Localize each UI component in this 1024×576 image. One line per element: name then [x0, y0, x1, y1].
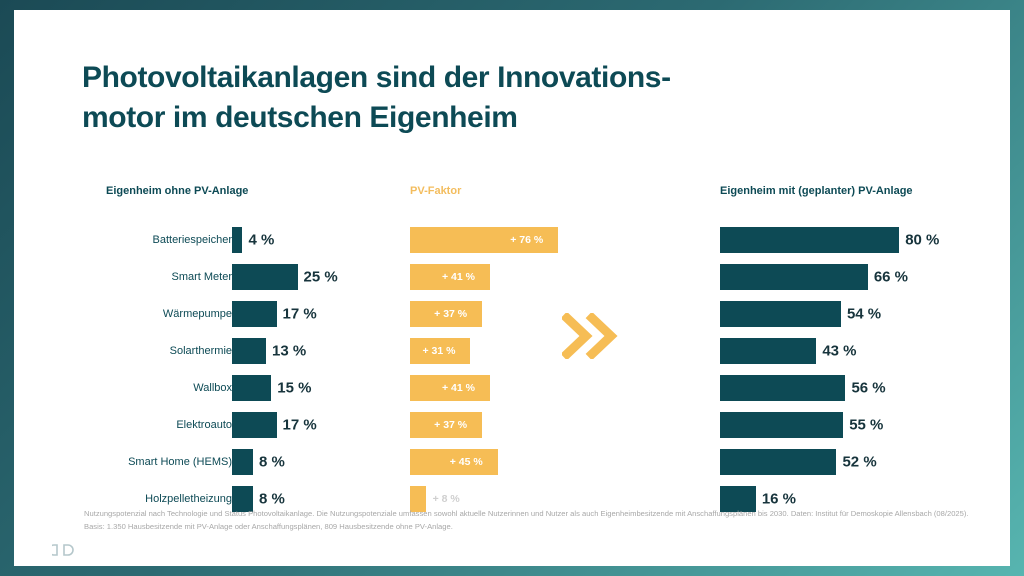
bar-row: 54 %: [702, 295, 982, 332]
bar-row: Batteriespeicher4 %: [74, 221, 404, 258]
bar-value-label: 15 %: [277, 379, 311, 396]
bar-without-pv: [232, 301, 277, 327]
bar-value-label: + 41 %: [442, 271, 475, 283]
slide-card: Photovoltaikanlagen sind der Innovations…: [14, 10, 1010, 566]
bar-value-label: 17 %: [283, 305, 317, 322]
bar-row: Smart Meter25 %: [74, 258, 404, 295]
bar-value-label: 43 %: [822, 342, 856, 359]
bar-value-label: 80 %: [905, 231, 939, 248]
bar-value-label: 66 %: [874, 268, 908, 285]
bar-rows-right: 80 %66 %54 %43 %56 %55 %52 %16 %: [702, 221, 982, 517]
title-highlight: Photovoltaikanlagen: [82, 61, 368, 94]
panel-heading-right: Eigenheim mit (geplanter) PV-Anlage: [720, 185, 913, 197]
title-line2: motor im deutschen Eigenheim: [82, 101, 518, 134]
bar-value-label: + 31 %: [422, 345, 455, 357]
bar-with-pv: [720, 412, 843, 438]
bar-rows-middle: + 76 %+ 41 %+ 37 %+ 31 %+ 41 %+ 37 %+ 45…: [410, 221, 640, 517]
bar-rows-left: Batteriespeicher4 %Smart Meter25 %Wärmep…: [74, 221, 404, 517]
bar-row: Smart Home (HEMS)8 %: [74, 443, 404, 480]
category-label: Solarthermie: [170, 345, 232, 357]
bar-with-pv: [720, 375, 845, 401]
category-label: Smart Home (HEMS): [128, 456, 232, 468]
page-title: Photovoltaikanlagen sind der Innovations…: [82, 58, 952, 137]
bar-value-label: 55 %: [849, 416, 883, 433]
bar-value-label: + 37 %: [434, 308, 467, 320]
bar-row: Wärmepumpe17 %: [74, 295, 404, 332]
bar-row: + 45 %: [410, 443, 640, 480]
bar-with-pv: [720, 227, 899, 253]
brand-logo: [52, 541, 82, 559]
bar-with-pv: [720, 338, 816, 364]
category-label: Wallbox: [193, 382, 232, 394]
bar-value-label: + 8 %: [433, 493, 460, 505]
double-chevron-right-icon: [562, 313, 620, 359]
panel-heading-left: Eigenheim ohne PV-Anlage: [106, 185, 248, 197]
bar-value-label: + 76 %: [510, 234, 543, 246]
bar-without-pv: [232, 449, 253, 475]
bar-row: Wallbox15 %: [74, 369, 404, 406]
bar-without-pv: [232, 227, 242, 253]
bar-row: 55 %: [702, 406, 982, 443]
bar-row: + 41 %: [410, 369, 640, 406]
bar-without-pv: [232, 338, 266, 364]
bar-without-pv: [232, 375, 271, 401]
bar-row: 80 %: [702, 221, 982, 258]
category-label: Batteriespeicher: [153, 234, 233, 246]
bar-value-label: 56 %: [851, 379, 885, 396]
bar-row: + 76 %: [410, 221, 640, 258]
bar-row: + 41 %: [410, 258, 640, 295]
bar-row: Solarthermie13 %: [74, 332, 404, 369]
bar-without-pv: [232, 412, 277, 438]
category-label: Wärmepumpe: [163, 308, 232, 320]
bar-row: 52 %: [702, 443, 982, 480]
category-label: Smart Meter: [171, 271, 232, 283]
panel-heading-middle: PV-Faktor: [410, 185, 461, 197]
bar-value-label: 8 %: [259, 453, 285, 470]
bar-value-label: 8 %: [259, 490, 285, 507]
category-label: Elektroauto: [176, 419, 232, 431]
bar-row: + 37 %: [410, 406, 640, 443]
bar-with-pv: [720, 449, 836, 475]
bar-value-label: + 41 %: [442, 382, 475, 394]
bar-with-pv: [720, 301, 841, 327]
title-rest: sind der Innovations-: [368, 61, 671, 94]
bar-value-label: 52 %: [842, 453, 876, 470]
bar-row: Elektroauto17 %: [74, 406, 404, 443]
bar-without-pv: [232, 264, 298, 290]
bar-value-label: + 37 %: [434, 419, 467, 431]
bar-row: 66 %: [702, 258, 982, 295]
bar-value-label: 25 %: [304, 268, 338, 285]
bar-value-label: 17 %: [283, 416, 317, 433]
bar-with-pv: [720, 264, 868, 290]
bar-value-label: 13 %: [272, 342, 306, 359]
bar-row: 56 %: [702, 369, 982, 406]
bar-value-label: + 45 %: [450, 456, 483, 468]
bar-value-label: 54 %: [847, 305, 881, 322]
bar-value-label: 4 %: [248, 231, 274, 248]
bar-value-label: 16 %: [762, 490, 796, 507]
footnote-source: Nutzungspotenzial nach Technologie und S…: [84, 507, 972, 533]
bar-row: 43 %: [702, 332, 982, 369]
category-label: Holzpelletheizung: [145, 493, 232, 505]
